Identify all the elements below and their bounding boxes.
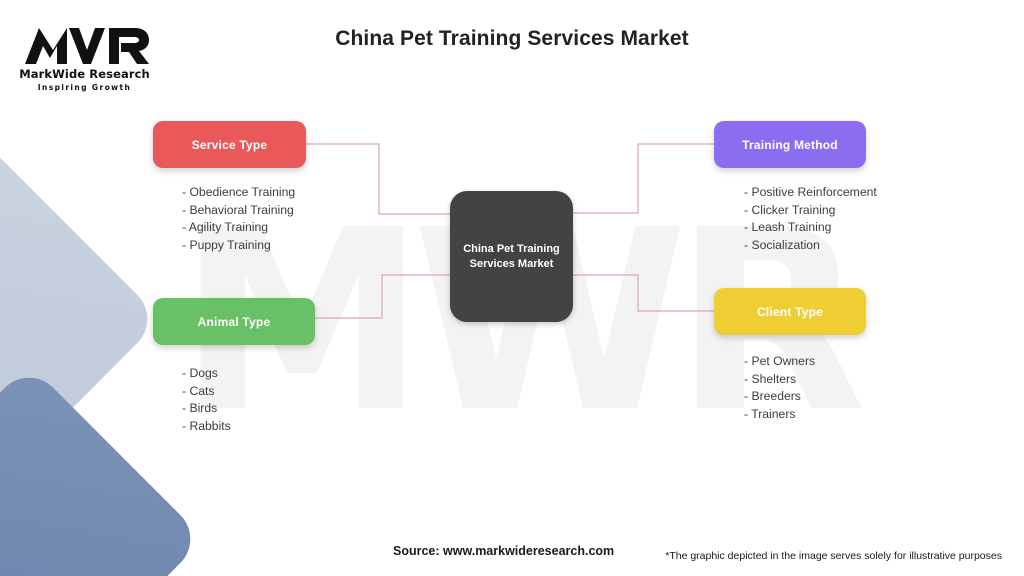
list-item: - Birds <box>182 400 315 418</box>
category-client-type-box[interactable]: Client Type <box>714 288 866 335</box>
category-training-method-box[interactable]: Training Method <box>714 121 866 168</box>
category-animal-type: Animal Type - Dogs - Cats - Birds - Rabb… <box>153 298 315 435</box>
list-item: - Trainers <box>744 406 866 424</box>
category-service-type-label: Service Type <box>192 138 268 152</box>
category-service-type: Service Type - Obedience Training - Beha… <box>153 121 306 254</box>
list-item: - Obedience Training <box>182 184 306 202</box>
list-item: - Positive Reinforcement <box>744 184 866 202</box>
footer-source: Source: www.markwideresearch.com <box>393 544 614 558</box>
category-animal-type-items: - Dogs - Cats - Birds - Rabbits <box>153 365 315 435</box>
category-client-type: Client Type - Pet Owners - Shelters - Br… <box>714 288 866 423</box>
category-training-method: Training Method - Positive Reinforcement… <box>714 121 866 254</box>
list-item: - Breeders <box>744 388 866 406</box>
category-training-method-label: Training Method <box>742 138 838 152</box>
logo-tagline: Inspiring Growth <box>17 83 152 92</box>
footer-disclaimer: *The graphic depicted in the image serve… <box>665 550 1002 562</box>
list-item: - Rabbits <box>182 418 315 436</box>
central-node: China Pet Training Services Market <box>450 191 573 322</box>
list-item: - Clicker Training <box>744 202 866 220</box>
category-client-type-items: - Pet Owners - Shelters - Breeders - Tra… <box>714 353 866 423</box>
category-animal-type-box[interactable]: Animal Type <box>153 298 315 345</box>
list-item: - Dogs <box>182 365 315 383</box>
category-training-method-items: - Positive Reinforcement - Clicker Train… <box>714 184 866 254</box>
category-service-type-box[interactable]: Service Type <box>153 121 306 168</box>
list-item: - Cats <box>182 383 315 401</box>
list-item: - Leash Training <box>744 219 866 237</box>
list-item: - Shelters <box>744 371 866 389</box>
page-title: China Pet Training Services Market <box>0 27 1024 51</box>
list-item: - Behavioral Training <box>182 202 306 220</box>
list-item: - Socialization <box>744 237 866 255</box>
category-service-type-items: - Obedience Training - Behavioral Traini… <box>153 184 306 254</box>
category-animal-type-label: Animal Type <box>198 315 271 329</box>
list-item: - Pet Owners <box>744 353 866 371</box>
logo-company-name: MarkWide Research <box>17 67 152 81</box>
list-item: - Agility Training <box>182 219 306 237</box>
list-item: - Puppy Training <box>182 237 306 255</box>
category-client-type-label: Client Type <box>757 305 823 319</box>
central-node-label: China Pet Training Services Market <box>450 242 573 272</box>
